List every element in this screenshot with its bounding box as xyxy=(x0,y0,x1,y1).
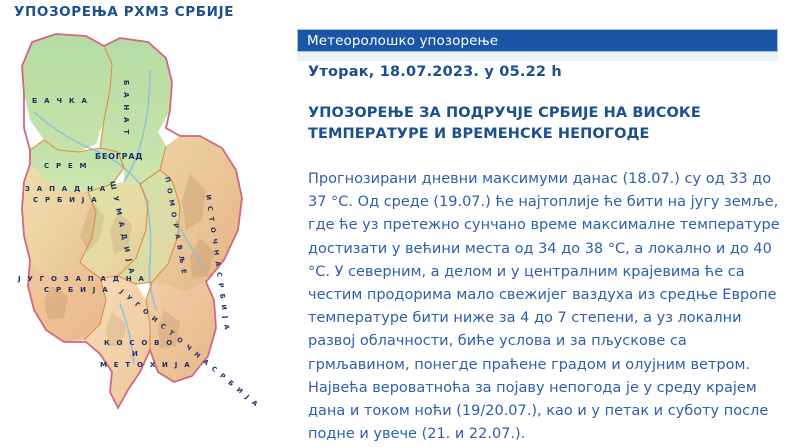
map-stage: Б А Ч К А Б А Н А Т С Р Е М БЕОГРАД З А … xyxy=(0,24,292,424)
serbia-map-panel: Б А Ч К А Б А Н А Т С Р Е М БЕОГРАД З А … xyxy=(0,24,292,447)
site-header-title: УПОЗОРЕЊА РХМЗ СРБИЈЕ xyxy=(14,0,234,24)
warning-datetime: Уторак, 18.07.2023. у 05.22 h xyxy=(308,64,562,80)
warning-subbar-strip xyxy=(297,52,778,61)
warning-panel: Метеоролошко упозорење Уторак, 18.07.202… xyxy=(292,0,790,447)
warning-titlebar-label: Метеоролошко упозорење xyxy=(307,33,498,49)
warning-headline: УПОЗОРЕЊЕ ЗА ПОДРУЧЈЕ СРБИЈЕ НА ВИСОКЕ Т… xyxy=(308,103,778,145)
serbia-map-image xyxy=(0,24,292,424)
warning-body-text: Прогнозирани дневни максимуми данас (18.… xyxy=(308,168,782,446)
warning-titlebar: Метеоролошко упозорење xyxy=(297,29,778,52)
region-backa xyxy=(22,34,112,152)
region-banat xyxy=(100,38,172,152)
